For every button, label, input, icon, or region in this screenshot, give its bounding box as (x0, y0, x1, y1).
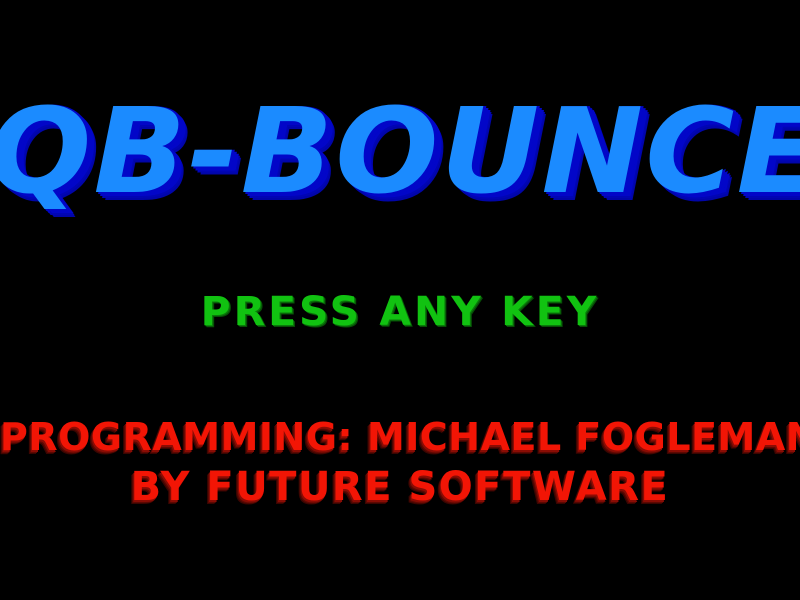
credit-line-programming: PROGRAMMING: MICHAEL FOGLEMAN (0, 412, 800, 462)
game-splash-screen[interactable]: QB-BOUNCE PRESS ANY KEY PROGRAMMING: MIC… (0, 0, 800, 600)
press-any-key-prompt[interactable]: PRESS ANY KEY (0, 290, 800, 334)
credit-line-publisher: BY FUTURE SOFTWARE (0, 462, 800, 512)
game-title: QB-BOUNCE (0, 92, 800, 210)
credits-block: PROGRAMMING: MICHAEL FOGLEMAN BY FUTURE … (0, 412, 800, 512)
